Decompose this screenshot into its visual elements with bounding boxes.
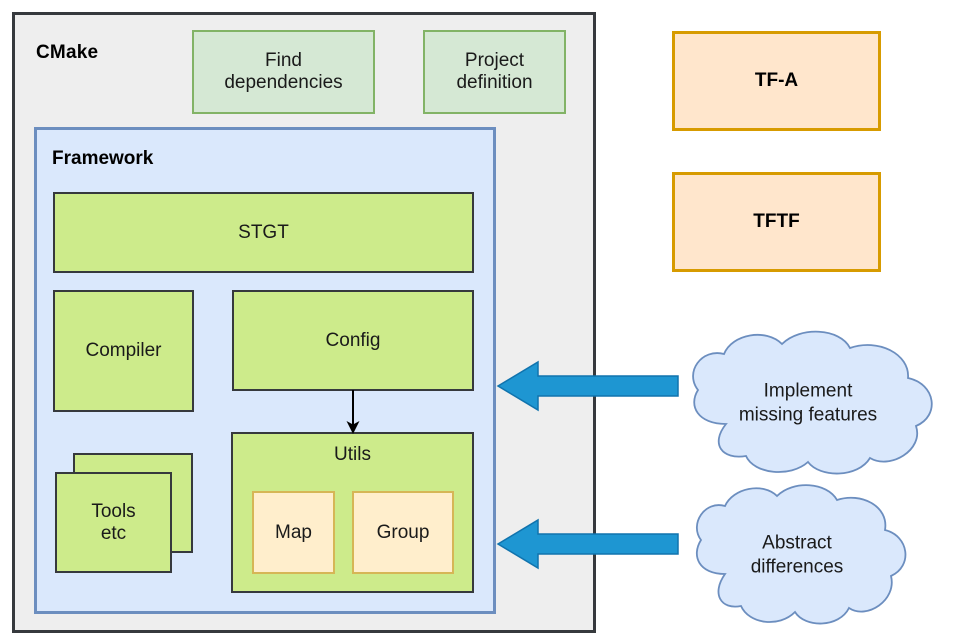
project-definition-label: Project definition xyxy=(456,50,532,94)
config-label: Config xyxy=(326,330,381,352)
find-dependencies-label: Find dependencies xyxy=(224,50,342,94)
group-label: Group xyxy=(377,522,430,544)
project-definition-box[interactable]: Project definition xyxy=(423,30,566,114)
map-box[interactable]: Map xyxy=(252,491,335,574)
compiler-label: Compiler xyxy=(85,340,161,362)
find-dependencies-label-line1: Find xyxy=(265,50,302,71)
tools-label-line2: etc xyxy=(101,523,126,545)
abstract-differences-cloud[interactable]: Abstract differences xyxy=(681,482,913,628)
map-label: Map xyxy=(275,522,312,544)
tools-label-line1: Tools xyxy=(91,501,135,523)
diagram-canvas: CMake Find dependencies Project definiti… xyxy=(0,0,964,644)
cloud-shape-icon xyxy=(674,328,942,478)
implement-missing-features-cloud[interactable]: Implement missing features xyxy=(674,328,942,478)
stgt-label: STGT xyxy=(238,222,289,244)
config-box[interactable]: Config xyxy=(232,290,474,391)
framework-label: Framework xyxy=(52,148,153,170)
tftf-box[interactable]: TFTF xyxy=(672,172,881,272)
compiler-box[interactable]: Compiler xyxy=(53,290,194,412)
tfa-label: TF-A xyxy=(755,70,798,92)
tools-box[interactable]: Tools etc xyxy=(55,472,172,573)
utils-label: Utils xyxy=(334,444,371,466)
project-definition-label-line1: Project xyxy=(465,50,524,71)
cmake-label: CMake xyxy=(36,42,98,64)
tfa-box[interactable]: TF-A xyxy=(672,31,881,131)
group-box[interactable]: Group xyxy=(352,491,454,574)
find-dependencies-box[interactable]: Find dependencies xyxy=(192,30,375,114)
find-dependencies-label-line2: dependencies xyxy=(224,72,342,93)
project-definition-label-line2: definition xyxy=(456,72,532,93)
tftf-label: TFTF xyxy=(753,211,799,233)
abstract-arrow-icon xyxy=(494,516,680,572)
cloud-shape-icon xyxy=(681,482,913,628)
stgt-box[interactable]: STGT xyxy=(53,192,474,273)
implement-arrow-icon xyxy=(494,358,680,414)
